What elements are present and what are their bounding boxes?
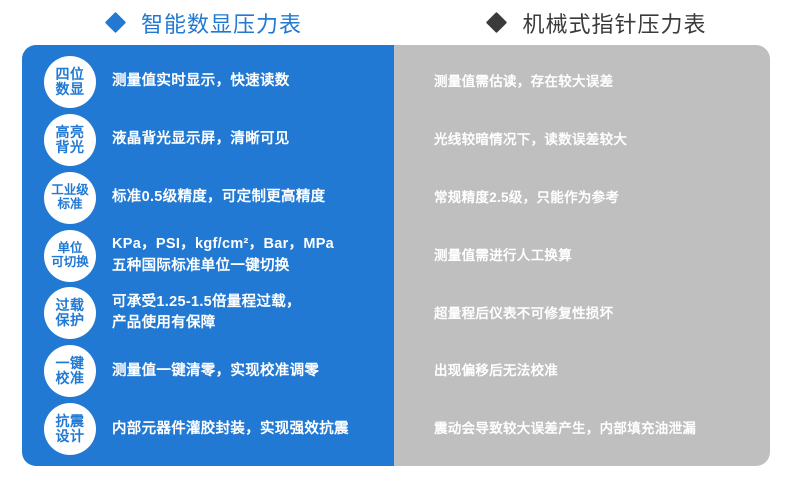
badge-line-2: 数显	[56, 82, 85, 97]
feature-text-line-2: 五种国际标准单位一键切换	[112, 256, 334, 277]
list-item: 出现偏移后无法校准	[394, 342, 770, 400]
feature-text-line-1: 标准0.5级精度，可定制更高精度	[112, 187, 325, 208]
drawback-text: 测量值需进行人工换算	[434, 246, 572, 266]
feature-badge: 一键 校准	[44, 345, 96, 397]
feature-text-line-1: 测量值一键清零，实现校准调零	[112, 361, 319, 382]
list-item: 一键 校准 测量值一键清零，实现校准调零	[22, 342, 394, 400]
badge-line-1: 单位	[57, 242, 82, 256]
feature-text: 可承受1.25-1.5倍量程过载， 产品使用有保障	[112, 292, 301, 334]
list-item: 工业级 标准 标准0.5级精度，可定制更高精度	[22, 169, 394, 227]
drawback-text: 超量程后仪表不可修复性损坏	[434, 304, 613, 324]
badge-line-2: 可切换	[51, 256, 89, 270]
digital-gauge-panel: 四位 数显 测量值实时显示，快速读数 高亮 背光 液晶背光显示屏，清晰可见	[22, 45, 394, 466]
list-item: 单位 可切换 KPa，PSI，kgf/cm²，Bar，MPa 五种国际标准单位一…	[22, 227, 394, 285]
badge-line-2: 保护	[56, 313, 85, 328]
badge-line-1: 工业级	[51, 184, 89, 198]
list-item: 震动会导致较大误差产生，内部填充油泄漏	[394, 400, 770, 458]
drawback-text: 出现偏移后无法校准	[434, 361, 558, 381]
page-title-right: 机械式指针压力表	[522, 7, 706, 39]
feature-badge: 工业级 标准	[44, 172, 96, 224]
header-right: 机械式指针压力表	[396, 0, 790, 45]
feature-text: 内部元器件灌胶封装，实现强效抗震	[112, 419, 349, 440]
feature-text: 液晶背光显示屏，清晰可见	[112, 129, 290, 150]
header-left: 智能数显压力表	[0, 0, 396, 45]
comparison-headers: 智能数显压力表 机械式指针压力表	[0, 0, 790, 45]
mechanical-gauge-panel: 测量值需估读，存在较大误差 光线较暗情况下，读数误差较大 常规精度2.5级，只能…	[394, 45, 770, 466]
diamond-icon	[486, 12, 507, 33]
drawback-text: 常规精度2.5级，只能作为参考	[434, 188, 619, 208]
badge-line-1: 高亮	[56, 125, 85, 140]
list-item: 过载 保护 可承受1.25-1.5倍量程过载， 产品使用有保障	[22, 284, 394, 342]
feature-text-line-1: 可承受1.25-1.5倍量程过载，	[112, 292, 301, 313]
badge-line-2: 设计	[56, 429, 85, 444]
badge-line-2: 校准	[56, 371, 85, 386]
badge-line-1: 一键	[56, 356, 85, 371]
feature-badge: 四位 数显	[44, 56, 96, 108]
list-item: 常规精度2.5级，只能作为参考	[394, 169, 770, 227]
feature-text: 标准0.5级精度，可定制更高精度	[112, 187, 325, 208]
feature-text: 测量值一键清零，实现校准调零	[112, 361, 319, 382]
badge-line-1: 过载	[56, 298, 85, 313]
list-item: 测量值需进行人工换算	[394, 227, 770, 285]
feature-badge: 抗震 设计	[44, 403, 96, 455]
mechanical-drawback-list: 测量值需估读，存在较大误差 光线较暗情况下，读数误差较大 常规精度2.5级，只能…	[394, 53, 770, 458]
feature-text-line-2: 产品使用有保障	[112, 313, 301, 334]
diamond-icon	[105, 12, 126, 33]
feature-badge: 单位 可切换	[44, 230, 96, 282]
badge-line-2: 标准	[57, 198, 82, 212]
feature-text: 测量值实时显示，快速读数	[112, 71, 290, 92]
list-item: 四位 数显 测量值实时显示，快速读数	[22, 53, 394, 111]
drawback-text: 测量值需估读，存在较大误差	[434, 72, 613, 92]
feature-badge: 高亮 背光	[44, 114, 96, 166]
comparison-panels: 四位 数显 测量值实时显示，快速读数 高亮 背光 液晶背光显示屏，清晰可见	[0, 45, 790, 466]
drawback-text: 光线较暗情况下，读数误差较大	[434, 130, 627, 150]
drawback-text: 震动会导致较大误差产生，内部填充油泄漏	[434, 419, 696, 439]
list-item: 测量值需估读，存在较大误差	[394, 53, 770, 111]
badge-line-1: 四位	[56, 67, 85, 82]
list-item: 高亮 背光 液晶背光显示屏，清晰可见	[22, 111, 394, 169]
list-item: 光线较暗情况下，读数误差较大	[394, 111, 770, 169]
feature-text-line-1: 测量值实时显示，快速读数	[112, 71, 290, 92]
badge-line-1: 抗震	[56, 414, 85, 429]
badge-line-2: 背光	[56, 140, 85, 155]
page-title-left: 智能数显压力表	[141, 7, 302, 39]
feature-badge: 过载 保护	[44, 287, 96, 339]
list-item: 抗震 设计 内部元器件灌胶封装，实现强效抗震	[22, 400, 394, 458]
feature-text-line-1: 内部元器件灌胶封装，实现强效抗震	[112, 419, 349, 440]
feature-text-line-1: KPa，PSI，kgf/cm²，Bar，MPa	[112, 234, 334, 255]
list-item: 超量程后仪表不可修复性损坏	[394, 284, 770, 342]
feature-text: KPa，PSI，kgf/cm²，Bar，MPa 五种国际标准单位一键切换	[112, 234, 334, 276]
feature-text-line-1: 液晶背光显示屏，清晰可见	[112, 129, 290, 150]
digital-feature-list: 四位 数显 测量值实时显示，快速读数 高亮 背光 液晶背光显示屏，清晰可见	[22, 53, 394, 458]
